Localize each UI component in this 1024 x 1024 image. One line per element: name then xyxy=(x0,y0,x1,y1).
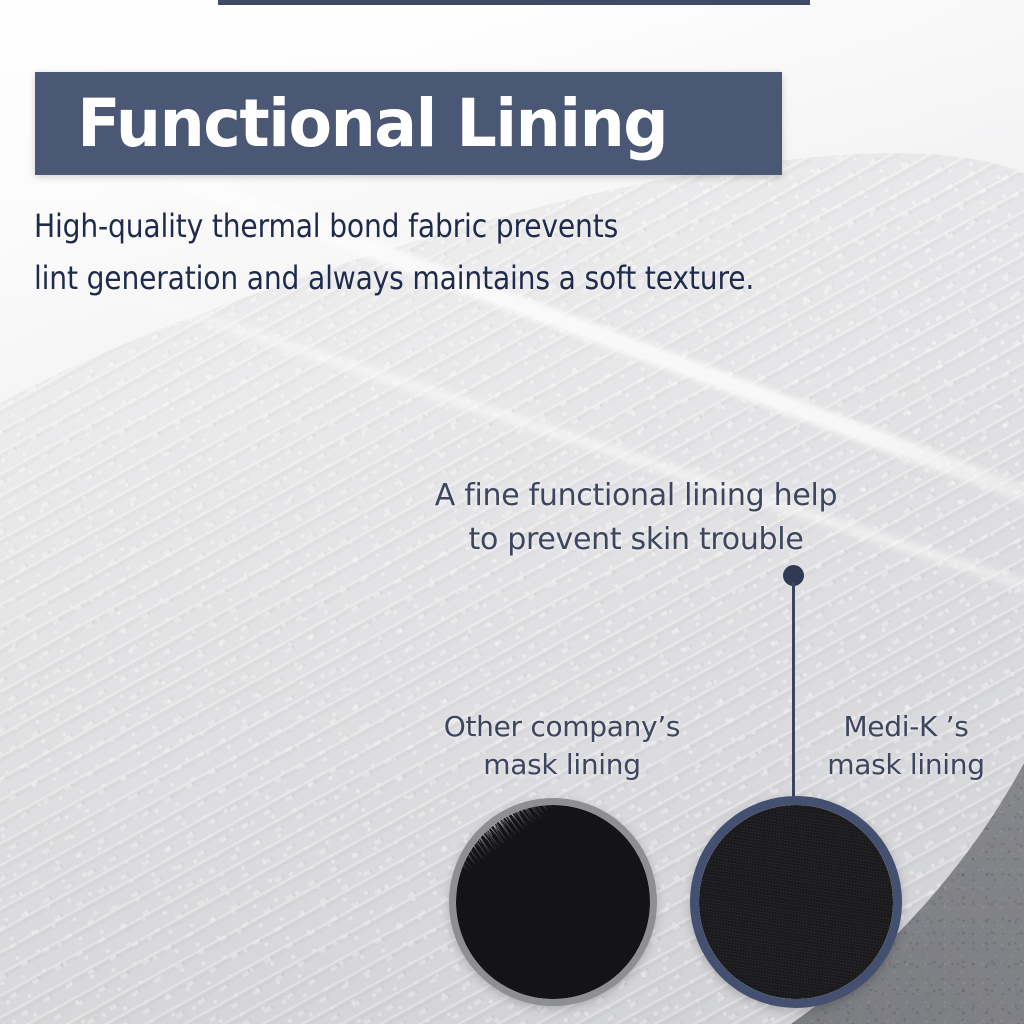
title-banner: Functional Lining xyxy=(35,72,782,175)
knit-texture xyxy=(690,796,902,1008)
product-infographic: Functional Lining High-quality thermal b… xyxy=(0,0,1024,1024)
medik-label-line-2: mask lining xyxy=(790,746,1022,784)
subtitle-block: High-quality thermal bond fabric prevent… xyxy=(34,200,754,304)
other-company-closeup-photo xyxy=(456,805,650,999)
other-company-label-line-2: mask lining xyxy=(404,746,720,784)
callout-line-1: A fine functional lining help xyxy=(378,474,894,518)
medik-label: Medi-K ’s mask lining xyxy=(790,708,1022,784)
subtitle-line-1: High-quality thermal bond fabric prevent… xyxy=(34,200,754,252)
callout-block: A fine functional lining help to prevent… xyxy=(378,474,894,562)
medik-closeup-photo xyxy=(699,805,893,999)
callout-line-2: to prevent skin trouble xyxy=(378,518,894,562)
subtitle-line-2: lint generation and always maintains a s… xyxy=(34,252,754,304)
other-company-closeup-circle xyxy=(449,798,657,1006)
medik-label-line-1: Medi-K ’s xyxy=(790,708,1022,746)
medik-closeup-circle xyxy=(690,796,902,1008)
page-title: Functional Lining xyxy=(35,91,667,157)
dark-fabric-half xyxy=(690,796,902,1008)
other-company-label-line-1: Other company’s xyxy=(404,708,720,746)
other-company-label: Other company’s mask lining xyxy=(404,708,720,784)
top-accent-bar xyxy=(218,0,810,5)
